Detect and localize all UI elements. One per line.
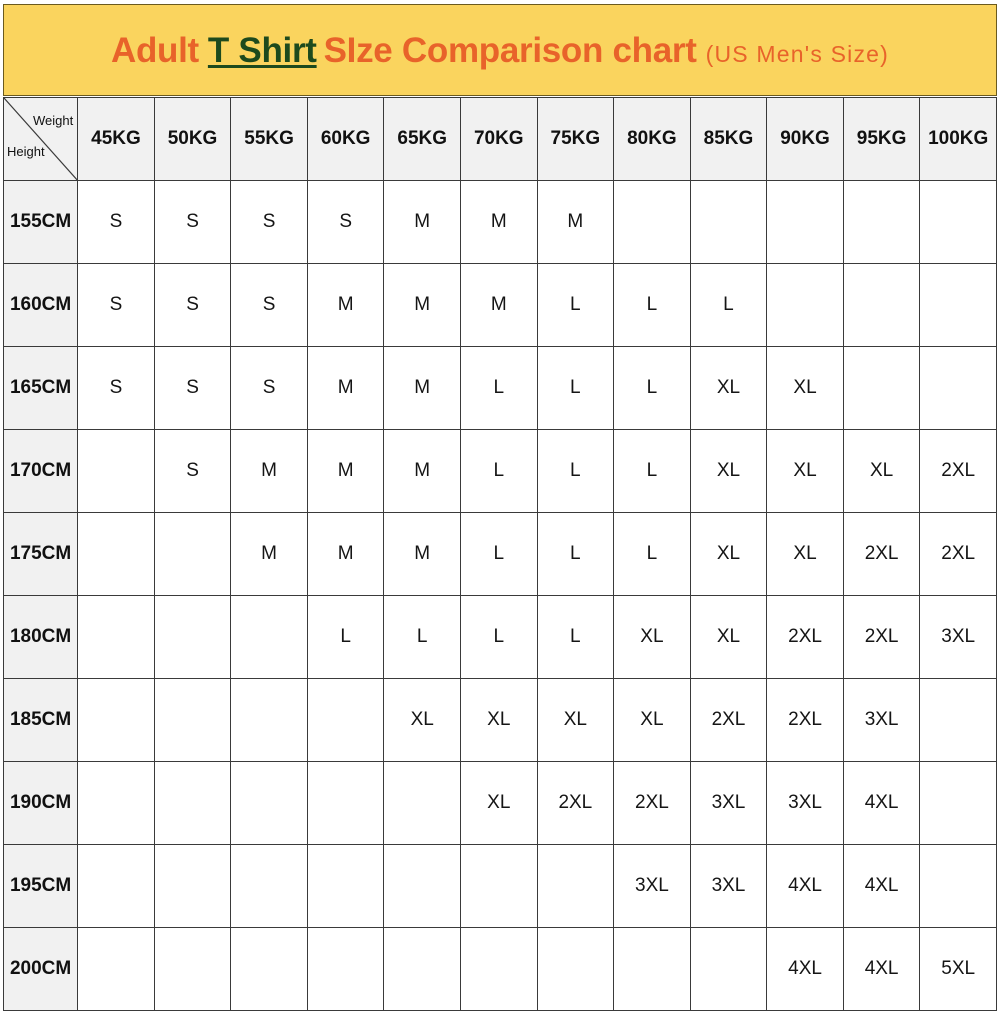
table-header-row: Weight Height 45KG50KG55KG60KG65KG70KG75…	[4, 98, 997, 181]
size-cell-empty	[767, 181, 844, 264]
size-cell-4xl: 4XL	[843, 845, 920, 928]
size-cell-xl: XL	[384, 679, 461, 762]
row-header-200cm: 200CM	[4, 928, 78, 1011]
size-cell-l: L	[537, 264, 614, 347]
column-header-55kg: 55KG	[231, 98, 308, 181]
size-cell-empty	[154, 513, 231, 596]
size-cell-empty	[920, 679, 997, 762]
size-cell-m: M	[461, 181, 538, 264]
size-cell-empty	[78, 430, 155, 513]
row-header-165cm: 165CM	[4, 347, 78, 430]
size-cell-xl: XL	[461, 762, 538, 845]
size-cell-xl: XL	[537, 679, 614, 762]
size-cell-empty	[231, 762, 308, 845]
size-cell-m: M	[231, 513, 308, 596]
size-cell-3xl: 3XL	[920, 596, 997, 679]
title-banner: Adult T Shirt SIze Comparison chart (US …	[3, 4, 997, 96]
size-comparison-table: Weight Height 45KG50KG55KG60KG65KG70KG75…	[3, 97, 997, 1011]
size-cell-xl: XL	[767, 347, 844, 430]
table-row: 180CMLLLLXLXL2XL2XL3XL	[4, 596, 997, 679]
size-cell-xl: XL	[767, 430, 844, 513]
size-cell-l: L	[614, 347, 691, 430]
column-header-85kg: 85KG	[690, 98, 767, 181]
size-cell-empty	[537, 928, 614, 1011]
table-row: 190CMXL2XL2XL3XL3XL4XL	[4, 762, 997, 845]
size-cell-m: M	[461, 264, 538, 347]
size-cell-xl: XL	[843, 430, 920, 513]
size-cell-m: M	[231, 430, 308, 513]
column-header-60kg: 60KG	[307, 98, 384, 181]
size-cell-l: L	[307, 596, 384, 679]
row-header-175cm: 175CM	[4, 513, 78, 596]
title-part-adult: Adult	[111, 33, 199, 68]
size-cell-m: M	[307, 264, 384, 347]
size-cell-3xl: 3XL	[614, 845, 691, 928]
size-cell-empty	[690, 928, 767, 1011]
size-cell-empty	[78, 679, 155, 762]
size-cell-2xl: 2XL	[920, 513, 997, 596]
size-cell-empty	[78, 845, 155, 928]
table-row: 185CMXLXLXLXL2XL2XL3XL	[4, 679, 997, 762]
size-cell-empty	[78, 762, 155, 845]
size-cell-2xl: 2XL	[767, 679, 844, 762]
size-cell-empty	[154, 596, 231, 679]
size-cell-m: M	[307, 430, 384, 513]
size-cell-empty	[307, 845, 384, 928]
size-cell-empty	[537, 845, 614, 928]
row-header-155cm: 155CM	[4, 181, 78, 264]
row-header-180cm: 180CM	[4, 596, 78, 679]
row-header-185cm: 185CM	[4, 679, 78, 762]
size-cell-m: M	[537, 181, 614, 264]
row-header-195cm: 195CM	[4, 845, 78, 928]
size-cell-empty	[231, 928, 308, 1011]
size-cell-empty	[920, 264, 997, 347]
size-cell-m: M	[307, 513, 384, 596]
size-cell-m: M	[384, 264, 461, 347]
column-header-95kg: 95KG	[843, 98, 920, 181]
title-subtitle: (US Men's Size)	[706, 43, 889, 66]
size-cell-l: L	[461, 430, 538, 513]
size-cell-4xl: 4XL	[843, 928, 920, 1011]
size-cell-l: L	[614, 264, 691, 347]
size-cell-5xl: 5XL	[920, 928, 997, 1011]
size-cell-xl: XL	[614, 596, 691, 679]
size-cell-empty	[154, 762, 231, 845]
table-row: 170CMSMMMLLLXLXLXL2XL	[4, 430, 997, 513]
size-cell-l: L	[461, 347, 538, 430]
title-part-rest: SIze Comparison chart	[324, 33, 697, 68]
column-header-100kg: 100KG	[920, 98, 997, 181]
size-cell-empty	[231, 845, 308, 928]
size-cell-4xl: 4XL	[767, 845, 844, 928]
size-cell-2xl: 2XL	[843, 596, 920, 679]
size-cell-l: L	[690, 264, 767, 347]
size-cell-s: S	[154, 181, 231, 264]
size-cell-empty	[461, 845, 538, 928]
size-cell-l: L	[537, 347, 614, 430]
size-cell-empty	[231, 679, 308, 762]
corner-weight-label: Weight	[33, 114, 73, 127]
table-row: 175CMMMMLLLXLXL2XL2XL	[4, 513, 997, 596]
column-header-70kg: 70KG	[461, 98, 538, 181]
size-cell-2xl: 2XL	[843, 513, 920, 596]
size-cell-3xl: 3XL	[690, 762, 767, 845]
size-cell-l: L	[537, 430, 614, 513]
title-part-tshirt: T Shirt	[208, 33, 317, 68]
size-cell-3xl: 3XL	[843, 679, 920, 762]
size-cell-empty	[843, 347, 920, 430]
size-cell-empty	[231, 596, 308, 679]
size-cell-xl: XL	[461, 679, 538, 762]
size-cell-s: S	[154, 347, 231, 430]
size-cell-empty	[767, 264, 844, 347]
table-row: 165CMSSSMMLLLXLXL	[4, 347, 997, 430]
size-cell-4xl: 4XL	[767, 928, 844, 1011]
size-cell-xl: XL	[690, 513, 767, 596]
size-cell-xl: XL	[767, 513, 844, 596]
size-cell-empty	[690, 181, 767, 264]
row-header-170cm: 170CM	[4, 430, 78, 513]
size-cell-s: S	[154, 430, 231, 513]
table-row: 200CM4XL4XL5XL	[4, 928, 997, 1011]
size-cell-empty	[920, 762, 997, 845]
size-cell-empty	[843, 264, 920, 347]
size-cell-m: M	[307, 347, 384, 430]
size-cell-l: L	[614, 430, 691, 513]
size-cell-xl: XL	[690, 347, 767, 430]
size-cell-3xl: 3XL	[767, 762, 844, 845]
size-chart-page: Adult T Shirt SIze Comparison chart (US …	[0, 0, 1000, 1000]
size-cell-empty	[384, 845, 461, 928]
column-header-50kg: 50KG	[154, 98, 231, 181]
size-cell-empty	[614, 928, 691, 1011]
size-cell-l: L	[537, 596, 614, 679]
column-header-45kg: 45KG	[78, 98, 155, 181]
size-cell-2xl: 2XL	[690, 679, 767, 762]
size-cell-empty	[843, 181, 920, 264]
size-cell-s: S	[78, 181, 155, 264]
size-cell-xl: XL	[690, 430, 767, 513]
column-header-80kg: 80KG	[614, 98, 691, 181]
size-cell-s: S	[231, 264, 308, 347]
size-cell-empty	[154, 679, 231, 762]
corner-header-cell: Weight Height	[4, 98, 78, 181]
size-cell-empty	[461, 928, 538, 1011]
size-cell-s: S	[307, 181, 384, 264]
column-header-65kg: 65KG	[384, 98, 461, 181]
size-cell-empty	[920, 845, 997, 928]
size-cell-empty	[78, 596, 155, 679]
size-cell-m: M	[384, 513, 461, 596]
size-cell-l: L	[461, 513, 538, 596]
size-cell-m: M	[384, 347, 461, 430]
size-cell-l: L	[461, 596, 538, 679]
size-cell-m: M	[384, 181, 461, 264]
size-cell-empty	[154, 845, 231, 928]
size-cell-empty	[384, 762, 461, 845]
size-cell-m: M	[384, 430, 461, 513]
size-cell-empty	[307, 762, 384, 845]
size-cell-l: L	[537, 513, 614, 596]
size-cell-s: S	[231, 181, 308, 264]
size-cell-s: S	[231, 347, 308, 430]
size-cell-empty	[307, 928, 384, 1011]
size-cell-empty	[920, 181, 997, 264]
size-cell-2xl: 2XL	[537, 762, 614, 845]
size-cell-empty	[384, 928, 461, 1011]
size-cell-l: L	[614, 513, 691, 596]
size-cell-s: S	[78, 347, 155, 430]
size-cell-empty	[154, 928, 231, 1011]
corner-height-label: Height	[7, 145, 45, 158]
size-cell-l: L	[384, 596, 461, 679]
page-title: Adult T Shirt SIze Comparison chart (US …	[111, 33, 889, 68]
row-header-160cm: 160CM	[4, 264, 78, 347]
size-cell-s: S	[78, 264, 155, 347]
table-row: 155CMSSSSMMM	[4, 181, 997, 264]
table-row: 195CM3XL3XL4XL4XL	[4, 845, 997, 928]
size-cell-4xl: 4XL	[843, 762, 920, 845]
size-cell-2xl: 2XL	[614, 762, 691, 845]
size-cell-3xl: 3XL	[690, 845, 767, 928]
size-cell-empty	[614, 181, 691, 264]
diagonal-divider-icon	[4, 98, 77, 180]
column-header-90kg: 90KG	[767, 98, 844, 181]
column-header-75kg: 75KG	[537, 98, 614, 181]
size-cell-xl: XL	[614, 679, 691, 762]
row-header-190cm: 190CM	[4, 762, 78, 845]
size-cell-2xl: 2XL	[920, 430, 997, 513]
size-cell-2xl: 2XL	[767, 596, 844, 679]
size-cell-empty	[920, 347, 997, 430]
table-row: 160CMSSSMMMLLL	[4, 264, 997, 347]
size-cell-s: S	[154, 264, 231, 347]
size-cell-xl: XL	[690, 596, 767, 679]
size-cell-empty	[307, 679, 384, 762]
size-cell-empty	[78, 513, 155, 596]
size-cell-empty	[78, 928, 155, 1011]
